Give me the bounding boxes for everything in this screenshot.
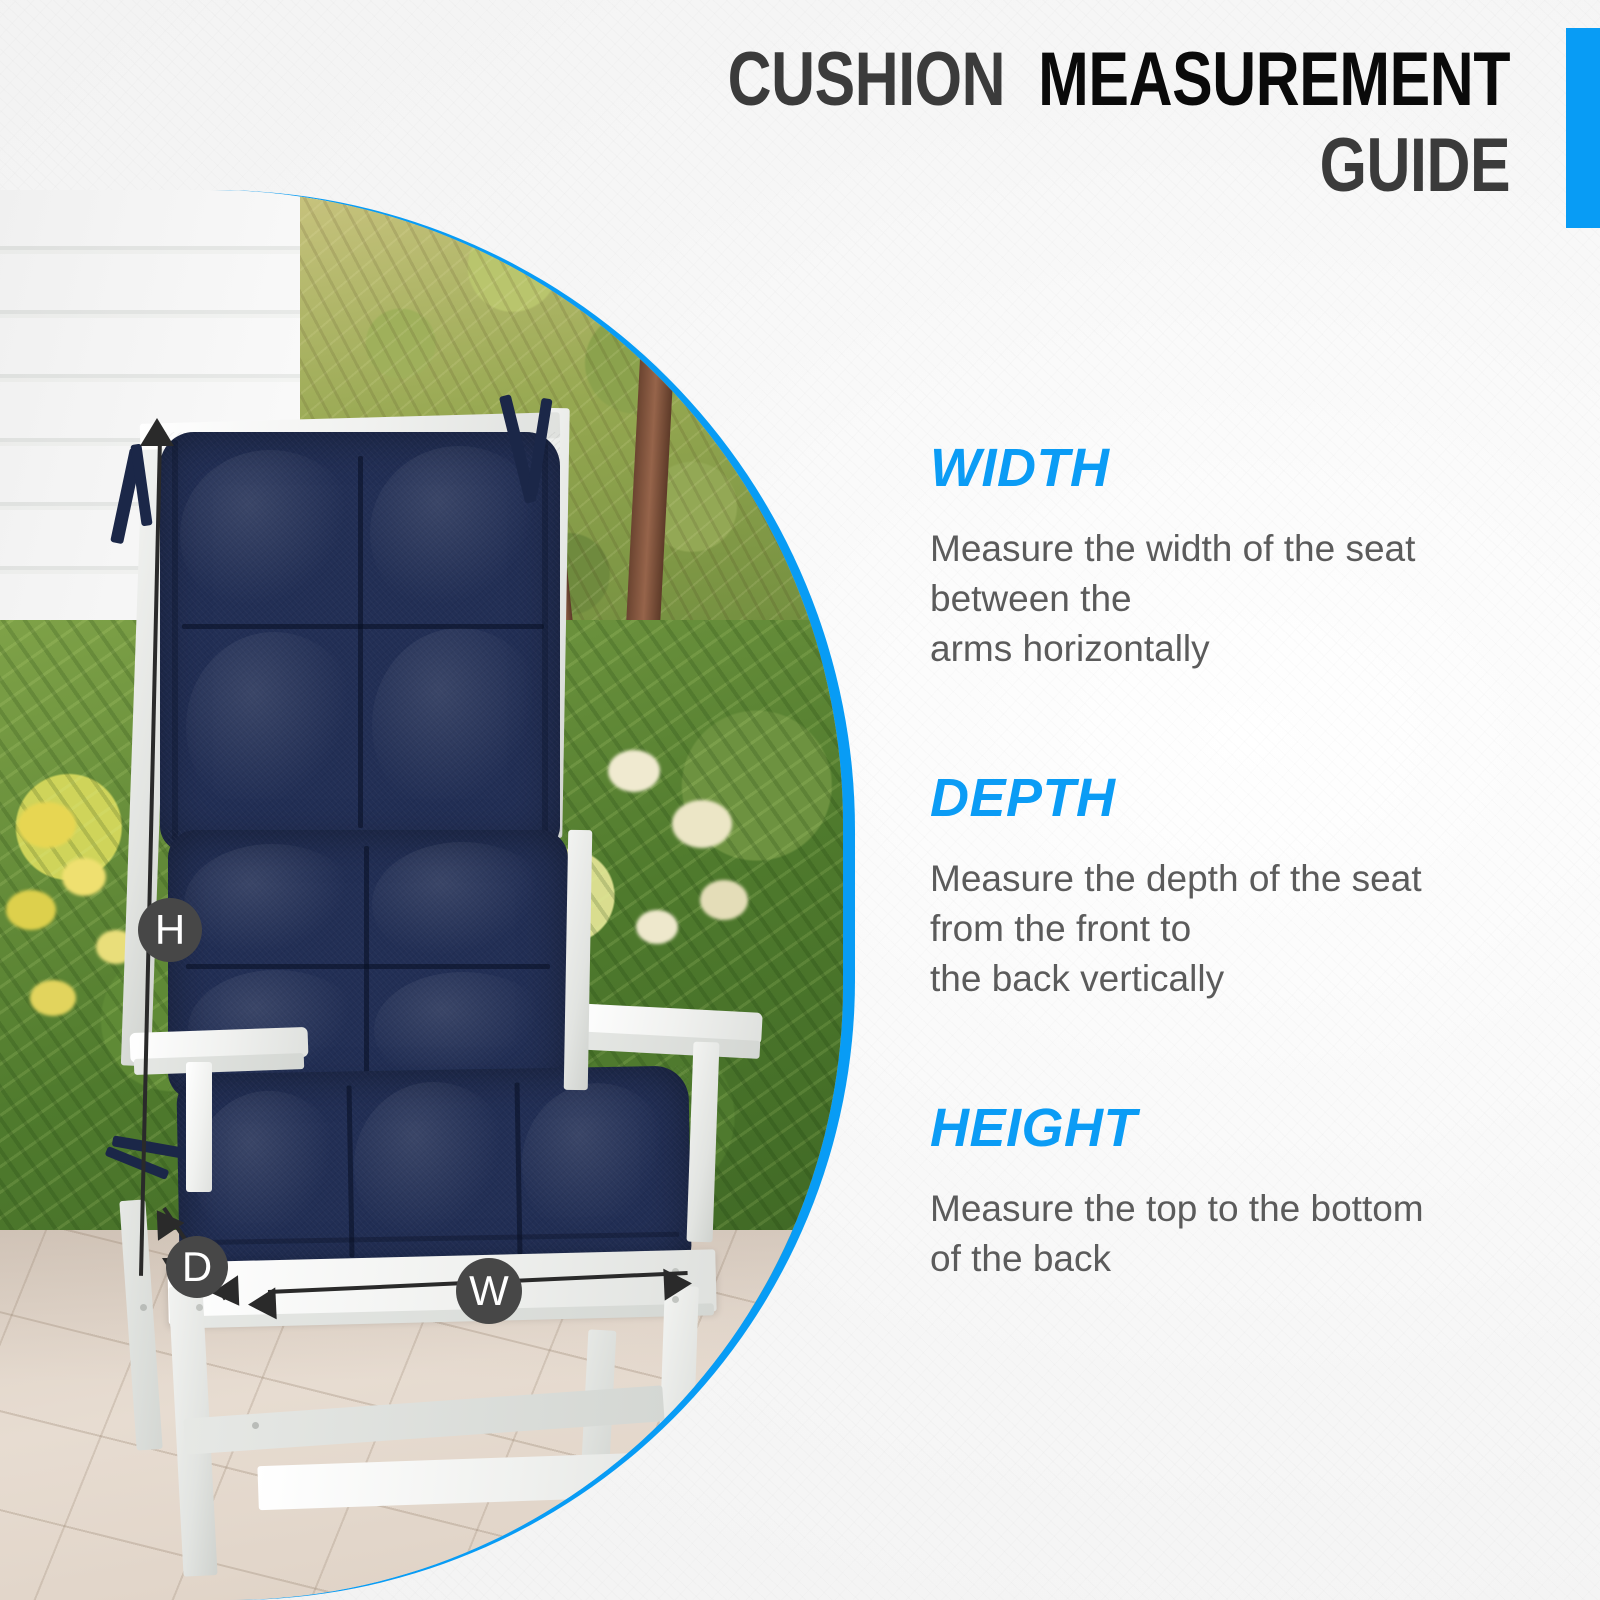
- spec-depth-title: DEPTH: [930, 770, 1550, 826]
- title-word-cushion: CUSHION: [728, 37, 1022, 122]
- page-title-line-1: CUSHION MEASUREMENT: [728, 42, 1510, 118]
- depth-badge-label: D: [182, 1243, 212, 1291]
- title-word-measurement: MEASUREMENT: [1038, 37, 1510, 122]
- spec-height: HEIGHT Measure the top to the bottom of …: [930, 1100, 1550, 1284]
- product-photo: H D W: [0, 190, 843, 1600]
- depth-badge: D: [166, 1236, 228, 1298]
- header: CUSHION MEASUREMENT GUIDE: [0, 0, 1600, 215]
- width-arrow-right-icon: [663, 1267, 692, 1300]
- spec-height-body: Measure the top to the bottom of the bac…: [930, 1184, 1550, 1284]
- page-title-line-2: GUIDE: [1319, 128, 1510, 204]
- product-photo-panel: H D W: [0, 190, 855, 1600]
- spec-width-title: WIDTH: [930, 440, 1550, 496]
- depth-arrow-upper-icon: [143, 1201, 184, 1240]
- spec-depth-body: Measure the depth of the seat from the f…: [930, 854, 1550, 1004]
- width-badge: W: [456, 1258, 522, 1324]
- width-arrow-left-icon: [247, 1287, 276, 1320]
- height-badge-label: H: [155, 906, 185, 954]
- width-badge-label: W: [469, 1267, 509, 1315]
- spec-width-body: Measure the width of the seat between th…: [930, 524, 1550, 674]
- measurement-overlay: H D W: [0, 190, 843, 1600]
- spec-height-title: HEIGHT: [930, 1100, 1550, 1156]
- height-arrow-top-icon: [140, 418, 174, 446]
- spec-depth: DEPTH Measure the depth of the seat from…: [930, 770, 1550, 1004]
- height-badge: H: [138, 898, 202, 962]
- height-measure-line: [139, 438, 162, 1276]
- measurement-spec-list: WIDTH Measure the width of the seat betw…: [930, 440, 1550, 1284]
- spec-width: WIDTH Measure the width of the seat betw…: [930, 440, 1550, 674]
- accent-bar: [1566, 28, 1600, 228]
